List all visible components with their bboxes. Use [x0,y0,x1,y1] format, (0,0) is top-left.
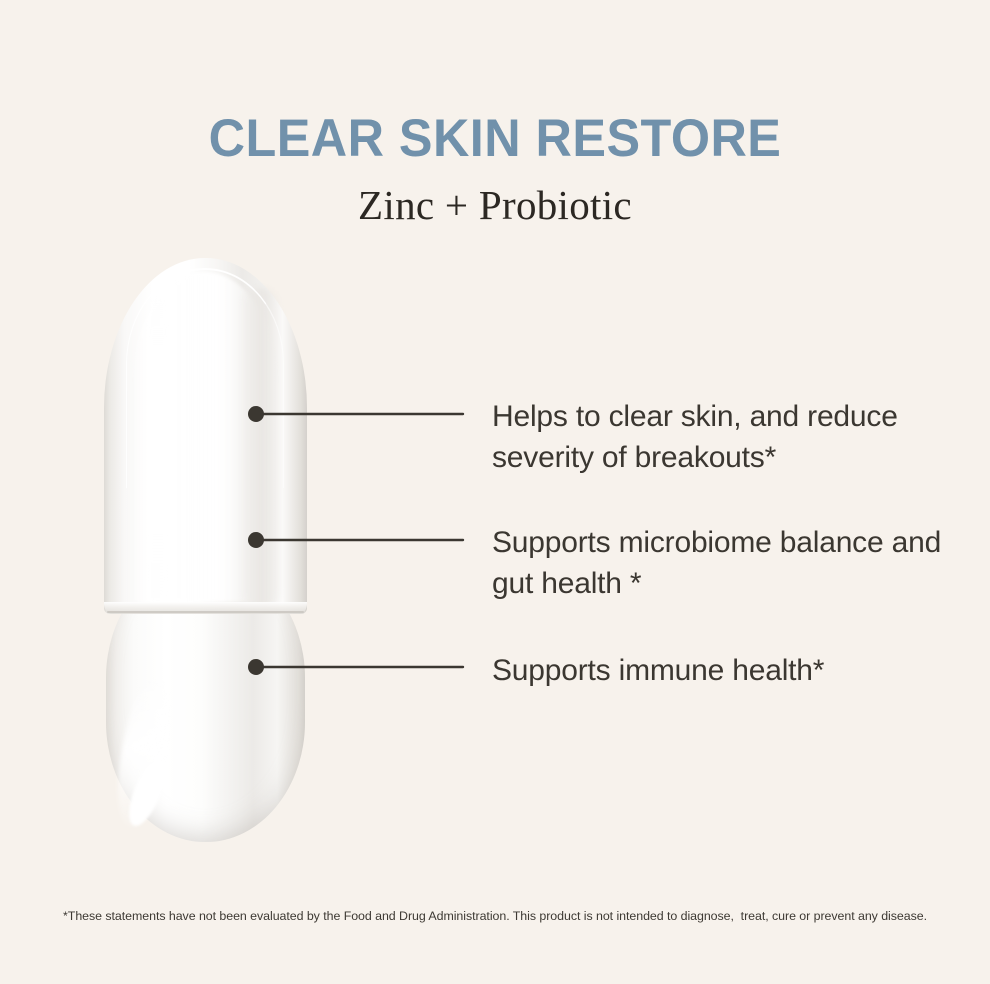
benefit-text-immune: Supports immune health* [492,650,962,691]
capsule-cap [104,258,307,614]
benefit-text-clear-skin: Helps to clear skin, and reduce severity… [492,396,962,478]
page-title: CLEAR SKIN RESTORE [25,112,966,165]
product-subtitle: Zinc + Probiotic [0,183,990,228]
capsule-image [104,258,307,842]
fda-disclaimer: *These statements have not been evaluate… [0,908,990,924]
capsule-seam-line [107,611,304,613]
capsule-cap-arc [126,268,284,488]
benefit-text-microbiome: Supports microbiome balance and gut heal… [492,522,962,604]
product-infographic: CLEAR SKIN RESTORE Zinc + Probiotic [0,0,990,984]
